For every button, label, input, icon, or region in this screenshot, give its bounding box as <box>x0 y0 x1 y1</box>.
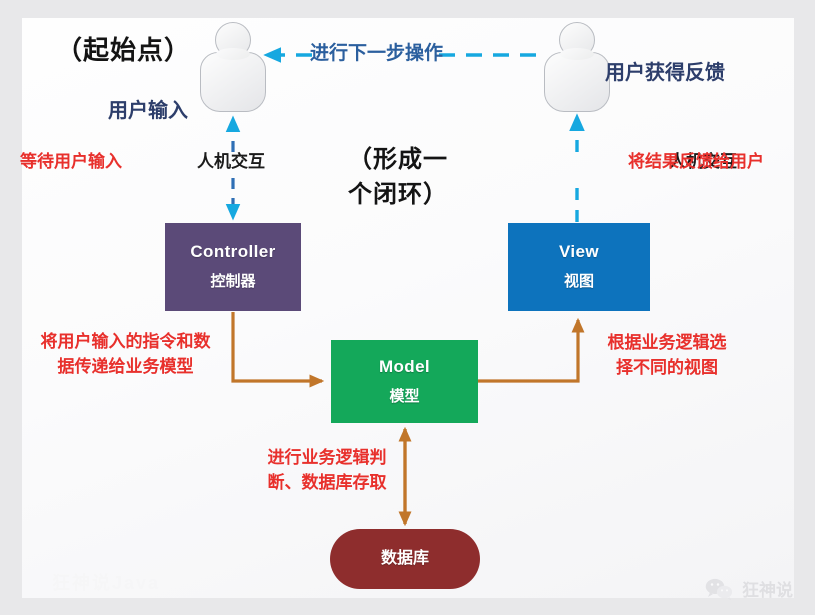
node-controller-title: Controller <box>190 243 275 262</box>
node-controller[interactable]: Controller 控制器 <box>165 223 301 311</box>
user-actor-right <box>541 22 613 114</box>
actor-neck-shade <box>216 48 250 60</box>
actor-neck-shade <box>560 48 594 60</box>
label-closed-loop: （形成一 个闭环） <box>348 143 448 213</box>
wechat-icon <box>704 577 734 601</box>
node-model-subtitle: 模型 <box>389 389 419 406</box>
label-user-gets-feedback: 用户获得反馈 <box>605 59 725 88</box>
label-model-database-note: 进行业务逻辑判 断、数据库存取 <box>237 446 417 495</box>
label-next-step-operation: 进行下一步操作 <box>310 40 443 68</box>
user-actor-left <box>197 22 269 114</box>
node-view[interactable]: View 视图 <box>508 223 650 311</box>
diagram-canvas: Controller 控制器 View 视图 Model 模型 数据库 （起始点… <box>0 0 815 615</box>
label-model-database-line2: 断、数据库存取 <box>237 471 417 496</box>
node-database[interactable]: 数据库 <box>330 529 480 589</box>
node-view-title: View <box>559 243 599 262</box>
label-model-to-view-line2: 择不同的视图 <box>587 356 747 381</box>
label-controller-to-model-line1: 将用户输入的指令和数 <box>18 330 233 355</box>
label-model-to-view-note: 根据业务逻辑选 择不同的视图 <box>587 331 747 380</box>
node-controller-subtitle: 控制器 <box>210 274 255 291</box>
label-controller-to-model-line2: 据传递给业务模型 <box>18 355 233 380</box>
label-closed-loop-line2: 个闭环） <box>348 178 448 213</box>
label-user-input: 用户输入 <box>108 97 188 126</box>
node-view-subtitle: 视图 <box>564 274 594 291</box>
label-start-point: （起始点） <box>56 32 191 70</box>
node-model-title: Model <box>379 358 430 377</box>
corner-watermark: 狂神说Java <box>52 569 242 599</box>
wechat-watermark-text: 狂神说 <box>742 576 793 601</box>
label-closed-loop-line1: （形成一 <box>348 143 448 178</box>
actor-body-icon <box>544 52 610 112</box>
label-model-database-line1: 进行业务逻辑判 <box>237 446 417 471</box>
node-model[interactable]: Model 模型 <box>331 340 478 423</box>
node-database-label: 数据库 <box>381 550 429 568</box>
actor-body-icon <box>200 52 266 112</box>
label-feedback-result-to-user: 将结果反馈给用户 <box>628 150 764 175</box>
label-model-to-view-line1: 根据业务逻辑选 <box>587 331 747 356</box>
label-hci-left: 人机交互 <box>197 150 265 175</box>
label-wait-for-user-input: 等待用户输入 <box>20 150 122 175</box>
wechat-watermark: 狂神说 <box>704 576 793 601</box>
label-controller-to-model-note: 将用户输入的指令和数 据传递给业务模型 <box>18 330 233 379</box>
